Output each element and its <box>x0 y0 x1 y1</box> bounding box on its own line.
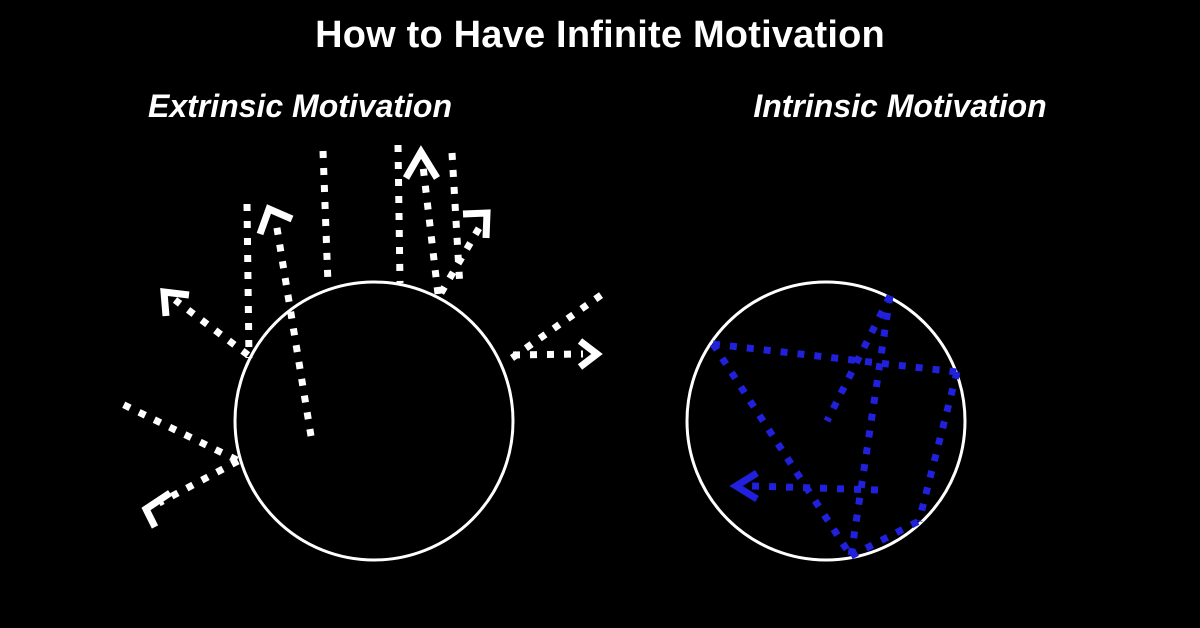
extrinsic-diagram-group <box>116 145 604 560</box>
ray-up-center-icon <box>398 145 400 283</box>
motivation-diagram <box>0 0 1200 628</box>
extrinsic-rays <box>116 145 604 503</box>
arrow-left-upper-icon <box>175 300 248 355</box>
ray-up-right-icon <box>452 153 460 288</box>
inner-path-right-to-bottom-icon <box>919 372 957 521</box>
extrinsic-circle <box>235 282 513 560</box>
arrow-lower-left-icon <box>159 461 238 503</box>
arrow-up-steep-icon <box>423 166 438 294</box>
ray-lower-left-plain-icon <box>116 401 237 460</box>
arrow-right-icon <box>513 354 583 355</box>
inner-path-bottom-edge-icon <box>851 521 919 556</box>
intrinsic-diagram-group <box>687 282 965 560</box>
arrowhead-upright-diag-icon <box>463 213 487 238</box>
slide-canvas: How to Have Infinite Motivation Extrinsi… <box>0 0 1200 628</box>
arrow-upleft-diagonal-icon <box>276 222 311 436</box>
arrow-upright-diag-icon <box>441 223 482 293</box>
extrinsic-arrowheads <box>146 152 597 527</box>
ray-up-left-icon <box>323 151 328 284</box>
inner-path-top-to-bottomright-icon <box>851 296 890 556</box>
inner-path-top-left-to-right-icon <box>713 344 957 372</box>
inner-arrow-to-left-icon <box>752 486 878 490</box>
intrinsic-inner-paths <box>713 296 957 556</box>
arrowhead-lower-left-icon <box>146 493 170 527</box>
ray-up-far-left-icon <box>247 204 249 358</box>
